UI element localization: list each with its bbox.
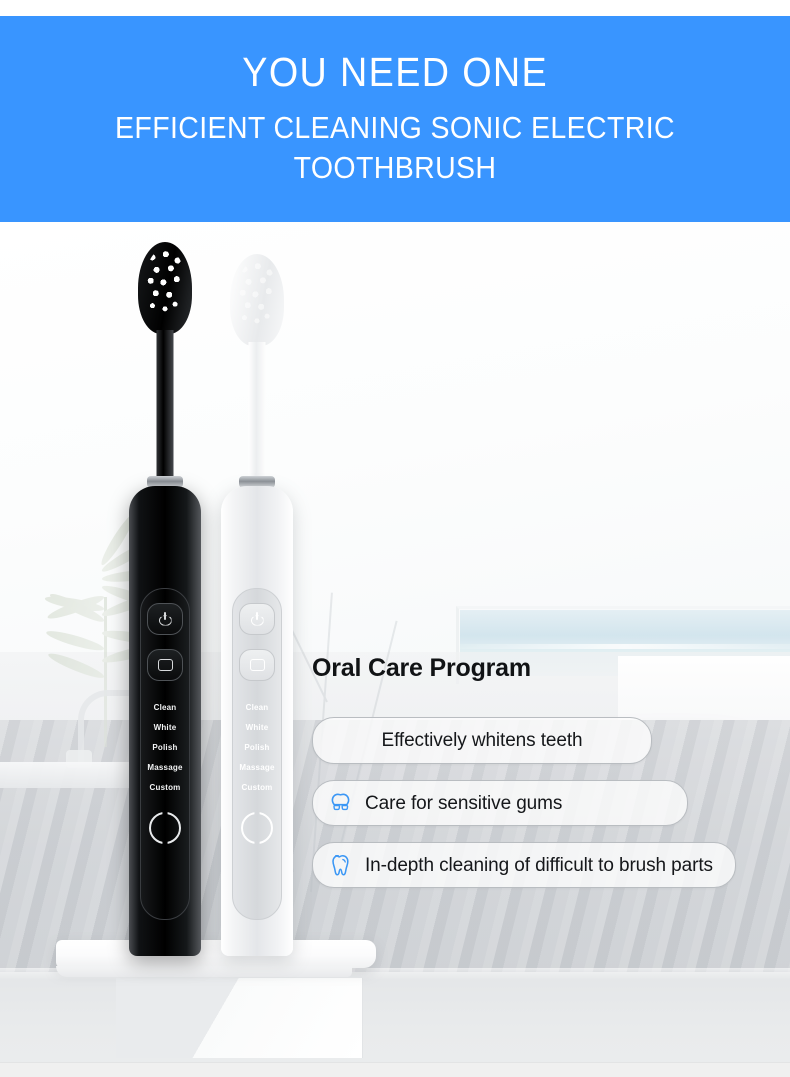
mode-label-custom: Custom	[242, 783, 273, 792]
toothbrush-white: Clean White Polish Massage Custom	[212, 254, 302, 964]
feature-pill-whitening: Effectively whitens teeth	[312, 717, 652, 764]
mode-label-white: White	[154, 723, 177, 732]
oral-care-panel: Oral Care Program Effectively whitens te…	[312, 654, 764, 904]
mode-label-clean: Clean	[154, 703, 177, 712]
mode-list: Clean White Polish Massage Custom	[239, 703, 274, 792]
power-icon	[158, 612, 173, 627]
pedestal-leg	[116, 978, 363, 1058]
brush-head	[138, 242, 192, 334]
product-banner-page: YOU NEED ONE EFFICIENT CLEANING SONIC EL…	[0, 0, 790, 1077]
molar-tooth-icon	[327, 790, 354, 816]
mode-button[interactable]	[147, 649, 183, 681]
plant-leaf	[46, 650, 105, 682]
brush-handle: Clean White Polish Massage Custom	[129, 486, 201, 956]
charge-ring-icon	[149, 812, 181, 844]
plant-leaf	[45, 628, 105, 654]
power-button[interactable]	[239, 603, 275, 635]
rounded-square-icon	[250, 659, 265, 671]
brush-head	[230, 254, 284, 346]
mode-label-massage: Massage	[147, 763, 182, 772]
brush-bristles	[236, 260, 278, 338]
control-panel: Clean White Polish Massage Custom	[232, 588, 282, 920]
charge-ring-icon	[241, 812, 273, 844]
mode-label-white: White	[246, 723, 269, 732]
feature-pill-deep-cleaning: In-depth cleaning of difficult to brush …	[312, 842, 736, 888]
brush-bristles	[144, 248, 186, 326]
feature-label: Effectively whitens teeth	[382, 729, 583, 752]
brush-neck	[249, 342, 266, 492]
tooth-icon	[327, 852, 354, 878]
mode-label-massage: Massage	[239, 763, 274, 772]
feature-pill-sensitive-gums: Care for sensitive gums	[312, 780, 688, 826]
section-heading: Oral Care Program	[312, 654, 764, 683]
power-button[interactable]	[147, 603, 183, 635]
brush-neck	[157, 330, 174, 480]
mode-list: Clean White Polish Massage Custom	[147, 703, 182, 792]
power-icon	[250, 612, 265, 627]
mode-label-polish: Polish	[244, 743, 269, 752]
banner-title: YOU NEED ONE	[242, 51, 548, 94]
mode-label-custom: Custom	[150, 783, 181, 792]
brush-handle: Clean White Polish Massage Custom	[221, 486, 293, 956]
product-scene: Clean White Polish Massage Custom	[0, 222, 790, 1077]
mode-label-polish: Polish	[152, 743, 177, 752]
banner-subtitle: EFFICIENT CLEANING SONIC ELECTRIC TOOTHB…	[45, 108, 744, 187]
mode-button[interactable]	[239, 649, 275, 681]
header-banner: YOU NEED ONE EFFICIENT CLEANING SONIC EL…	[0, 16, 790, 222]
feature-label: Care for sensitive gums	[365, 792, 562, 815]
toothbrush-black: Clean White Polish Massage Custom	[120, 242, 210, 962]
rounded-square-icon	[158, 659, 173, 671]
control-panel: Clean White Polish Massage Custom	[140, 588, 190, 920]
mode-label-clean: Clean	[246, 703, 269, 712]
feature-label: In-depth cleaning of difficult to brush …	[365, 854, 713, 877]
